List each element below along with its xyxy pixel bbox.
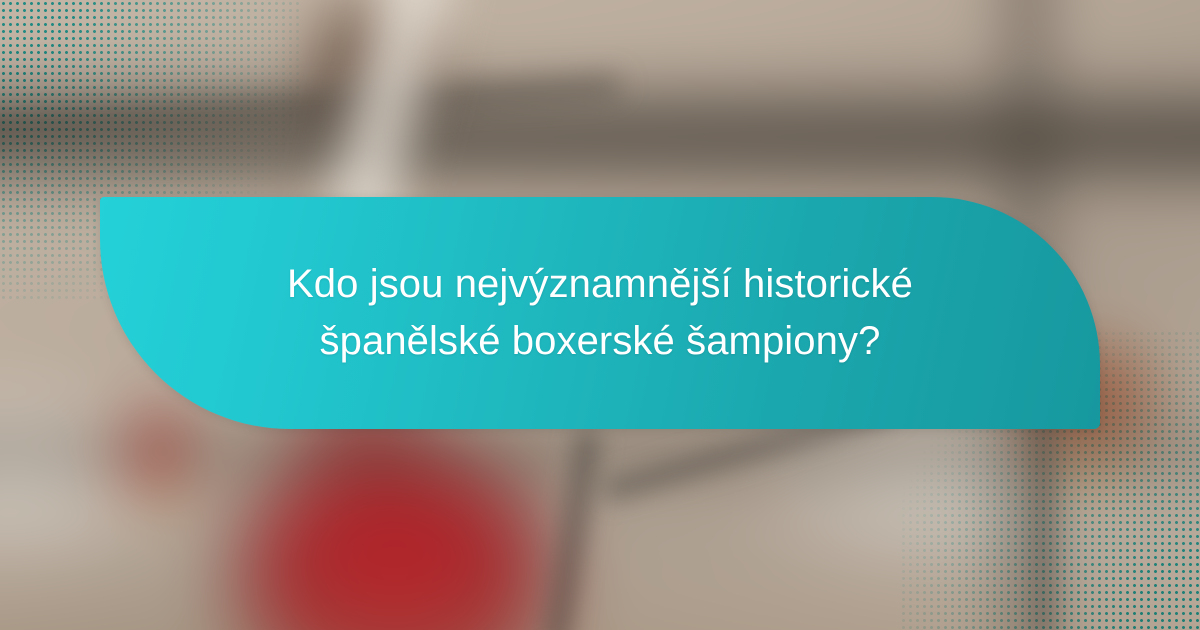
- question-title: Kdo jsou nejvýznamnější historické španě…: [145, 256, 1055, 370]
- question-banner: Kdo jsou nejvýznamnější historické španě…: [100, 197, 1100, 429]
- question-card: Kdo jsou nejvýznamnější historické španě…: [0, 0, 1200, 630]
